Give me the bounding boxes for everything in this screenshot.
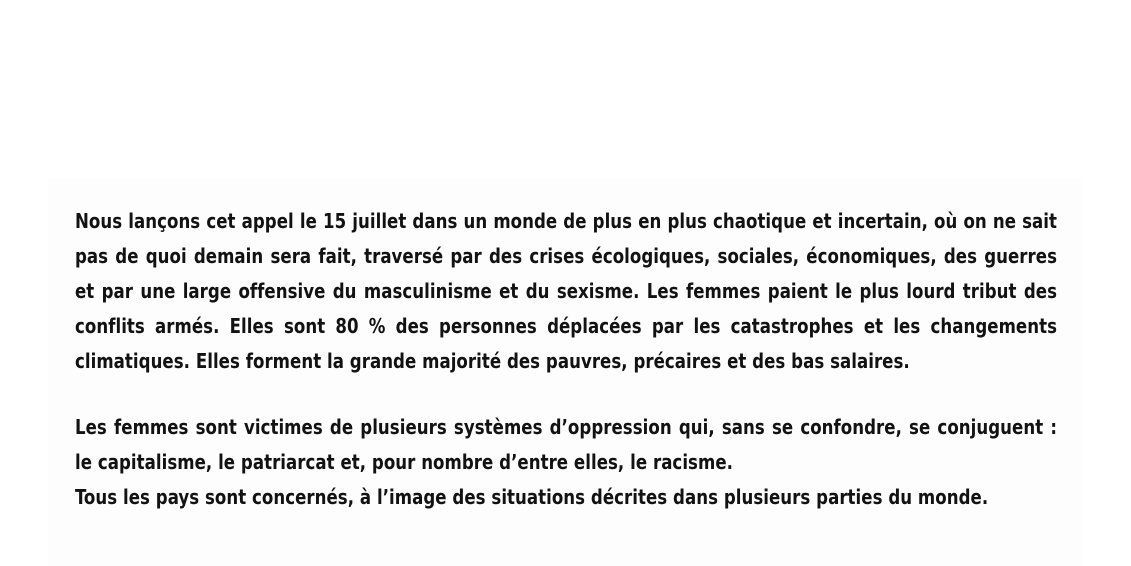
poster-text-card: Nous lançons cet appel le 15 juillet dan… [48, 178, 1082, 566]
body-paragraph-2-line-2: Tous les pays sont concernés, à l’image … [75, 480, 1057, 515]
body-paragraph-2-line-1: Les femmes sont victimes de plusieurs sy… [75, 410, 1057, 480]
poster-title-block: LIBERTÉ, SORORITÉ, ÉGALITÉ, SOLIDARITÉ I… [0, 0, 1131, 146]
poster-canvas: LIBERTÉ, SORORITÉ, ÉGALITÉ, SOLIDARITÉ I… [0, 0, 1131, 566]
paragraph-spacer [75, 379, 1058, 410]
poster-title-line-1: LIBERTÉ, SORORITÉ, ÉGALITÉ, SOLIDARITÉ I… [79, 34, 1052, 90]
poster-title-line-2: MANIFESTONS LE 11 OCTOBRE 2025 -1 [79, 90, 1052, 146]
body-paragraph-1: Nous lançons cet appel le 15 juillet dan… [75, 204, 1057, 379]
